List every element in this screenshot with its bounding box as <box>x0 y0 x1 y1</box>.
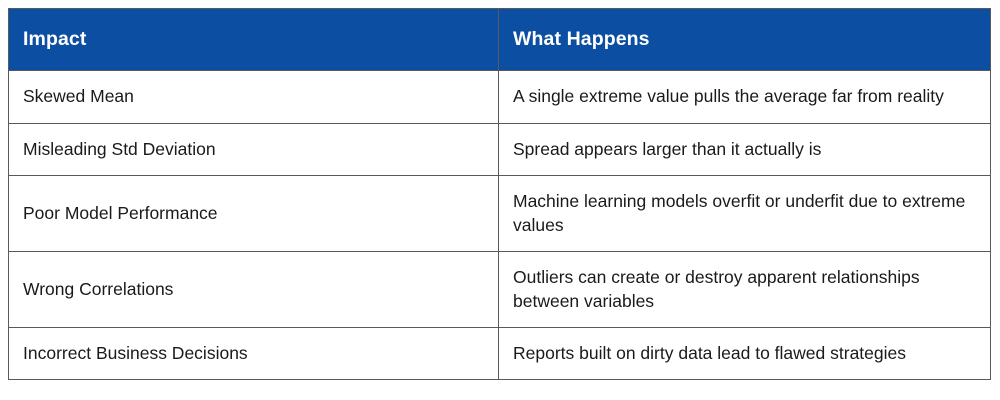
table-header-row: Impact What Happens <box>9 9 991 71</box>
impact-table: Impact What Happens Skewed Mean A single… <box>8 8 991 380</box>
table-header: Impact What Happens <box>9 9 991 71</box>
table-body: Skewed Mean A single extreme value pulls… <box>9 71 991 380</box>
cell-what-happens: Reports built on dirty data lead to flaw… <box>499 328 991 380</box>
cell-impact: Wrong Correlations <box>9 251 499 327</box>
cell-what-happens: Machine learning models overfit or under… <box>499 175 991 251</box>
cell-impact: Skewed Mean <box>9 71 499 123</box>
cell-what-happens: A single extreme value pulls the average… <box>499 71 991 123</box>
table-row: Skewed Mean A single extreme value pulls… <box>9 71 991 123</box>
table-row: Poor Model Performance Machine learning … <box>9 175 991 251</box>
column-header-impact: Impact <box>9 9 499 71</box>
cell-impact: Incorrect Business Decisions <box>9 328 499 380</box>
cell-what-happens: Spread appears larger than it actually i… <box>499 123 991 175</box>
cell-impact: Poor Model Performance <box>9 175 499 251</box>
column-header-what-happens: What Happens <box>499 9 991 71</box>
table-row: Misleading Std Deviation Spread appears … <box>9 123 991 175</box>
table-row: Incorrect Business Decisions Reports bui… <box>9 328 991 380</box>
cell-what-happens: Outliers can create or destroy apparent … <box>499 251 991 327</box>
impact-table-container: Impact What Happens Skewed Mean A single… <box>8 8 990 390</box>
cell-impact: Misleading Std Deviation <box>9 123 499 175</box>
table-row: Wrong Correlations Outliers can create o… <box>9 251 991 327</box>
